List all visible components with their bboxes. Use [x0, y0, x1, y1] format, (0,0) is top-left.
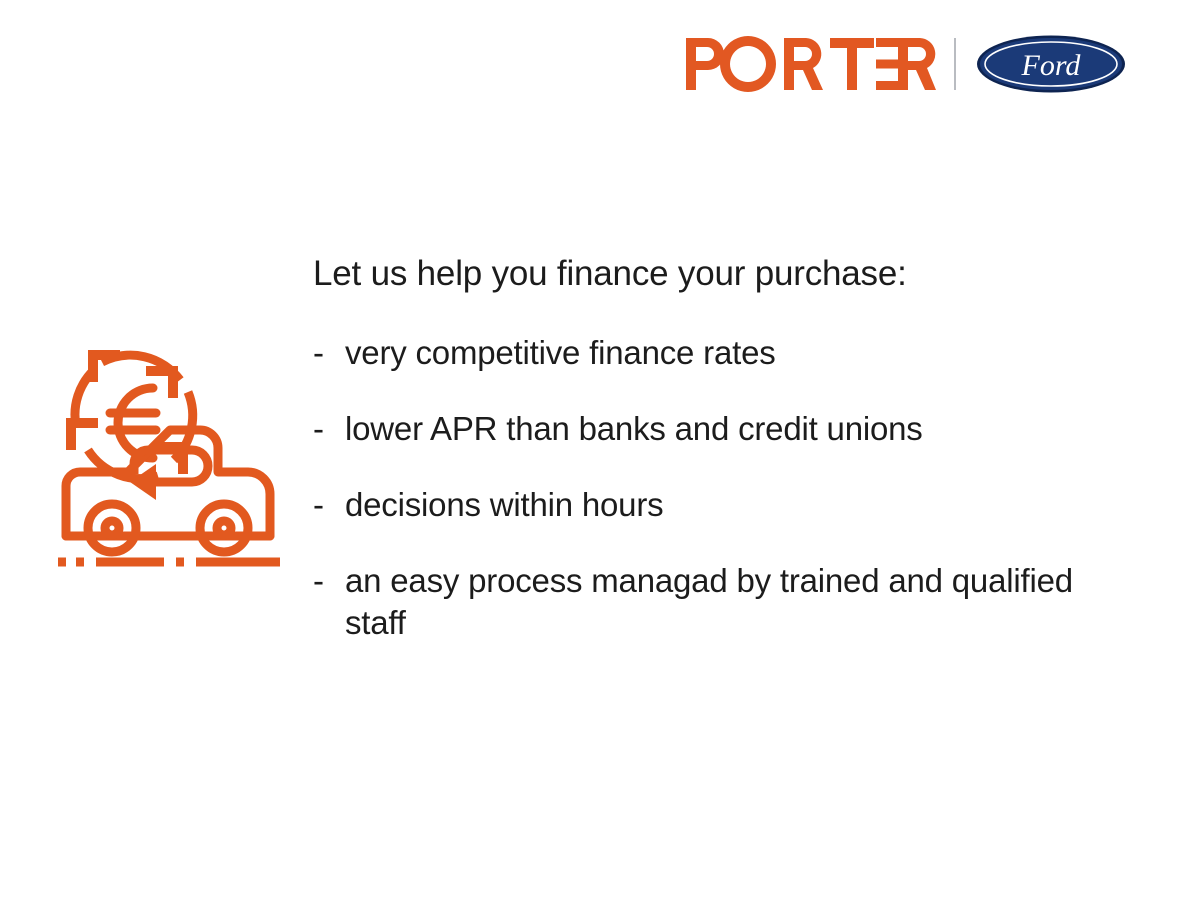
bullet-dash: - — [313, 408, 345, 450]
list-item-label: very competitive finance rates — [345, 332, 1075, 374]
copy-block: Let us help you finance your purchase: -… — [313, 252, 1113, 644]
finance-slide: Ford — [0, 0, 1200, 900]
page-title: Let us help you finance your purchase: — [313, 252, 1113, 296]
list-item-label: an easy process managad by trained and q… — [345, 560, 1075, 644]
porter-logo — [684, 36, 936, 92]
bullet-dash: - — [313, 560, 345, 602]
list-item-label: decisions within hours — [345, 484, 1075, 526]
brand-lockup: Ford — [684, 28, 1126, 100]
list-item: - decisions within hours — [313, 484, 1113, 526]
benefits-list: - very competitive finance rates - lower… — [313, 332, 1113, 644]
brand-divider — [954, 38, 956, 90]
bullet-dash: - — [313, 332, 345, 374]
ford-logo: Ford — [976, 34, 1126, 94]
list-item: - an easy process managad by trained and… — [313, 560, 1113, 644]
list-item: - lower APR than banks and credit unions — [313, 408, 1113, 450]
list-item: - very competitive finance rates — [313, 332, 1113, 374]
bullet-dash: - — [313, 484, 345, 526]
list-item-label: lower APR than banks and credit unions — [345, 408, 1075, 450]
car-wheels — [88, 504, 248, 552]
euro-car-finance-icon — [52, 322, 296, 570]
ford-wordmark-text: Ford — [1021, 49, 1082, 82]
